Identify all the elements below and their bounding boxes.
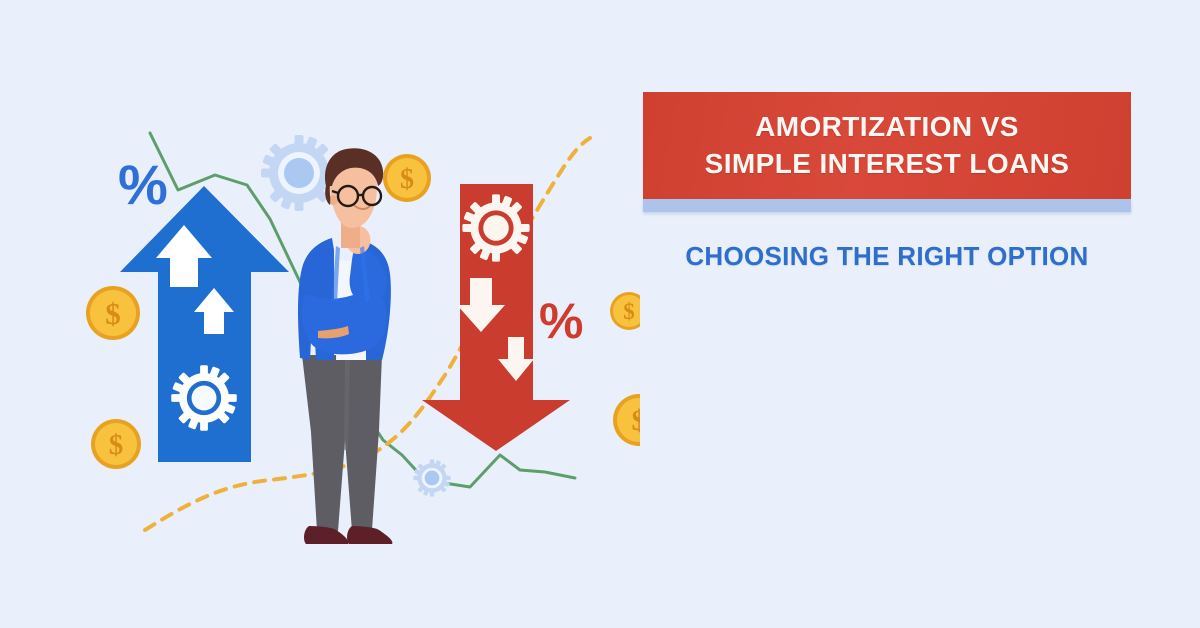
blue-up-arrow [120,182,289,462]
subtitle: CHOOSING THE RIGHT OPTION [643,241,1131,272]
gold-coin-top-center: $ [383,154,431,202]
accent-bar [643,199,1131,212]
gold-coin-left-upper: $ [86,286,140,340]
illustration-artwork: $ $ $ $ $ % % [0,0,640,628]
gear-icon-white-on-red-arrow [462,194,529,261]
poster-canvas: $ $ $ $ $ % % AMORTIZATION VS SI [0,0,1200,628]
svg-text:$: $ [105,296,121,331]
gear-icon-white-on-blue-arrow [171,365,237,431]
title-line-1: AMORTIZATION VS [755,109,1019,146]
person-shoes [304,526,392,544]
svg-text:$: $ [623,299,635,324]
gold-coin-left-lower: $ [91,419,141,469]
gear-icon-pale-bottom [413,459,450,496]
person-legs [302,355,382,531]
svg-text:$: $ [632,404,641,437]
title-banner: AMORTIZATION VS SIMPLE INTEREST LOANS [643,92,1131,199]
svg-text:$: $ [109,429,124,461]
svg-text:$: $ [400,164,414,195]
gold-coin-right-upper: $ [610,292,640,330]
businessman-figure [298,148,392,544]
percent-symbol-red: % [539,293,583,349]
title-text-block: AMORTIZATION VS SIMPLE INTEREST LOANS CH… [643,92,1131,272]
gold-coin-right-lower: $ [613,394,640,446]
percent-symbol-blue: % [118,153,168,216]
title-line-2: SIMPLE INTEREST LOANS [705,146,1070,183]
